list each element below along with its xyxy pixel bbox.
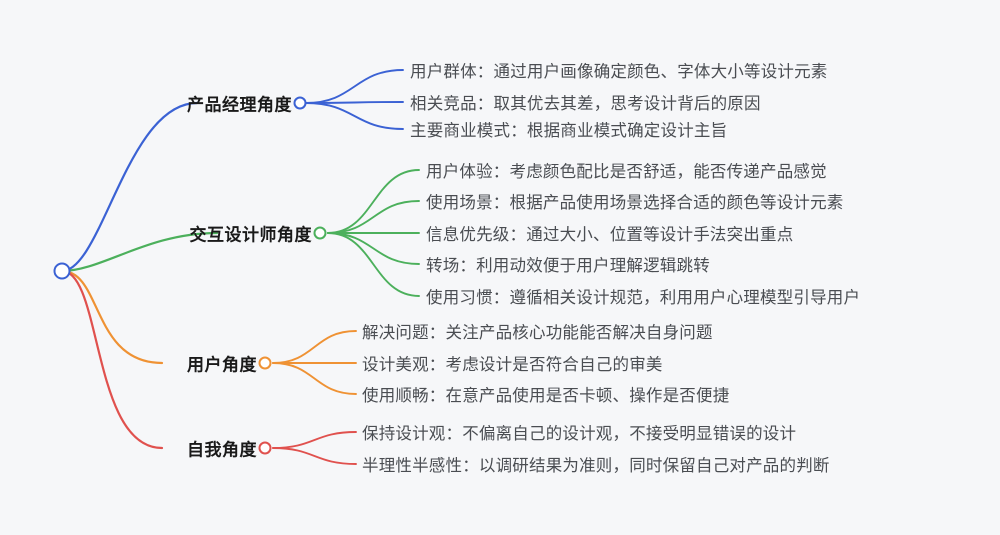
leaf-label[interactable]: 信息优先级：通过大小、位置等设计手法突出重点 [426,221,793,245]
connector-line [306,102,403,103]
branch-node-product-manager[interactable] [294,97,307,110]
leaf-label[interactable]: 解决问题：关注产品核心功能能否解决自身问题 [362,319,713,343]
connector-line [273,448,356,464]
connector-line [273,432,356,448]
branch-node-user[interactable] [259,357,272,370]
leaf-label[interactable]: 用户体验：考虑颜色配比是否舒适，能否传递产品感觉 [426,158,827,182]
connector-line [62,271,162,448]
leaf-label[interactable]: 使用顺畅：在意产品使用是否卡顿、操作是否便捷 [362,382,729,406]
leaf-label[interactable]: 相关竞品：取其优去其差，思考设计背后的原因 [410,90,761,114]
leaf-label[interactable]: 转场：利用动效便于用户理解逻辑跳转 [426,252,710,276]
leaf-label[interactable]: 保持设计观：不偏离自己的设计观，不接受明显错误的设计 [362,420,796,444]
root-node[interactable] [54,263,71,280]
branch-label-interaction-designer[interactable]: 交互设计师角度 [190,221,313,246]
leaf-label[interactable]: 用户群体：通过用户画像确定颜色、字体大小等设计元素 [410,58,828,82]
leaf-label[interactable]: 使用场景：根据产品使用场景选择合适的颜色等设计元素 [426,189,844,213]
connector-line [328,201,419,233]
connector-line [328,233,419,296]
connector-line [306,70,403,103]
leaf-label[interactable]: 半理性半感性：以调研结果为准则，同时保留自己对产品的判断 [362,452,830,476]
branch-label-product-manager[interactable]: 产品经理角度 [187,91,292,116]
connector-line [273,363,356,394]
connector-line [328,170,419,233]
branch-label-user[interactable]: 用户角度 [187,351,257,376]
leaf-label[interactable]: 使用习惯：遵循相关设计规范，利用用户心理模型引导用户 [426,284,860,308]
branch-node-interaction-designer[interactable] [314,227,327,240]
connector-line [328,233,419,264]
connector-line [306,103,403,129]
connector-line [62,271,162,363]
branch-label-self[interactable]: 自我角度 [187,436,257,461]
mindmap-canvas: 用户群体：通过用户画像确定颜色、字体大小等设计元素相关竞品：取其优去其差，思考设… [0,0,1000,535]
connector-line [273,331,356,363]
leaf-label[interactable]: 设计美观：考虑设计是否符合自己的审美 [362,351,663,375]
connector-line [62,103,197,271]
branch-node-self[interactable] [259,442,272,455]
leaf-label[interactable]: 主要商业模式：根据商业模式确定设计主旨 [410,117,727,141]
